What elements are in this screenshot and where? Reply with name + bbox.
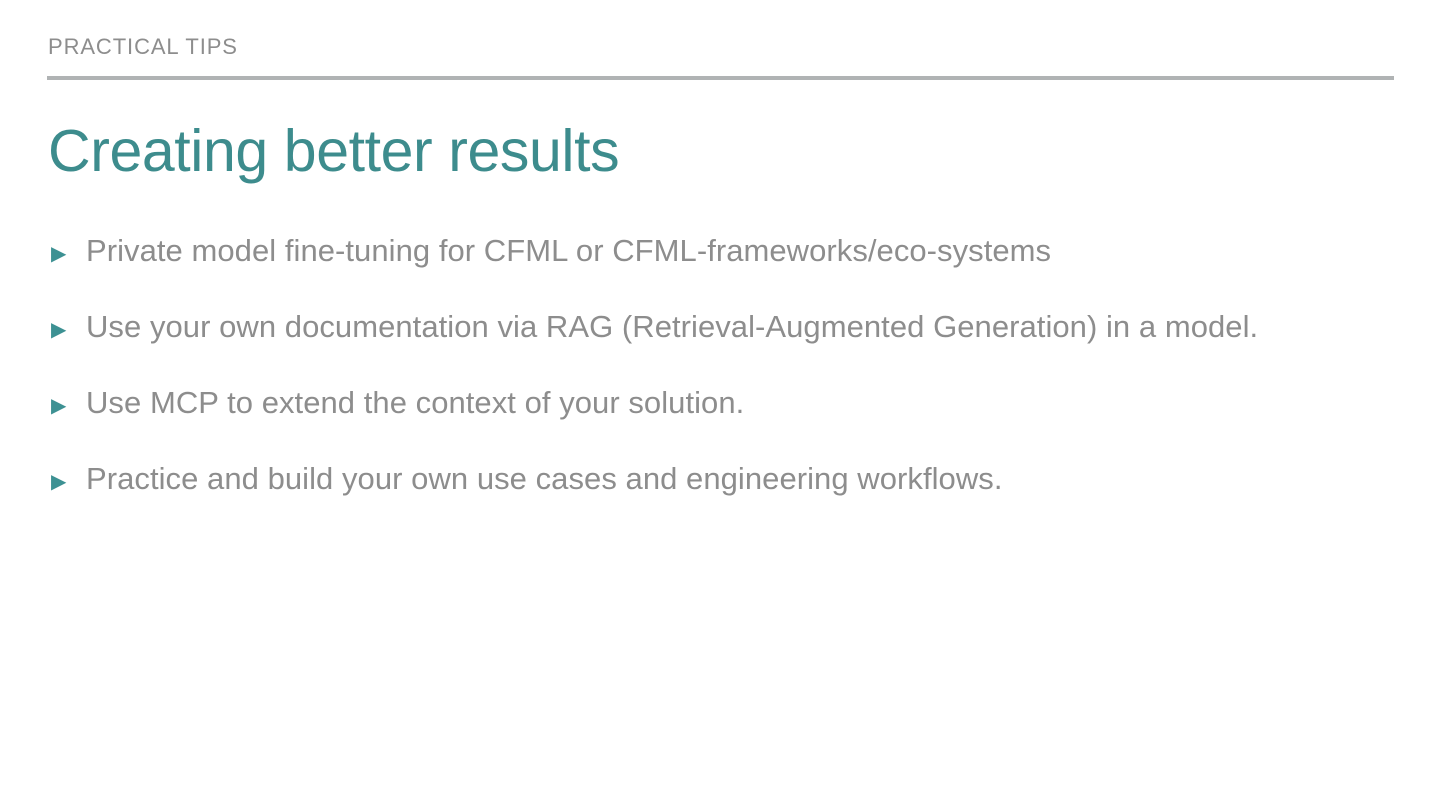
list-item: ▶ Private model fine-tuning for CFML or … — [48, 228, 1388, 281]
triangle-bullet-icon: ▶ — [48, 228, 86, 281]
list-item-label: Use your own documentation via RAG (Retr… — [86, 304, 1331, 349]
slide: PRACTICAL TIPS Creating better results ▶… — [0, 0, 1440, 810]
triangle-bullet-icon: ▶ — [48, 380, 86, 433]
page-title: Creating better results — [48, 118, 1388, 184]
triangle-bullet-icon: ▶ — [48, 456, 86, 509]
slide-header: PRACTICAL TIPS — [48, 34, 1394, 60]
list-item: ▶ Use MCP to extend the context of your … — [48, 380, 1388, 433]
list-item: ▶ Practice and build your own use cases … — [48, 456, 1388, 509]
bullet-list: ▶ Private model fine-tuning for CFML or … — [48, 228, 1388, 532]
slide-eyebrow-label: PRACTICAL TIPS — [48, 34, 1394, 60]
list-item: ▶ Use your own documentation via RAG (Re… — [48, 304, 1388, 357]
list-item-label: Use MCP to extend the context of your so… — [86, 380, 1341, 425]
header-divider — [47, 76, 1394, 80]
triangle-bullet-icon: ▶ — [48, 304, 86, 357]
list-item-label: Practice and build your own use cases an… — [86, 456, 1341, 501]
list-item-label: Private model fine-tuning for CFML or CF… — [86, 228, 1341, 273]
